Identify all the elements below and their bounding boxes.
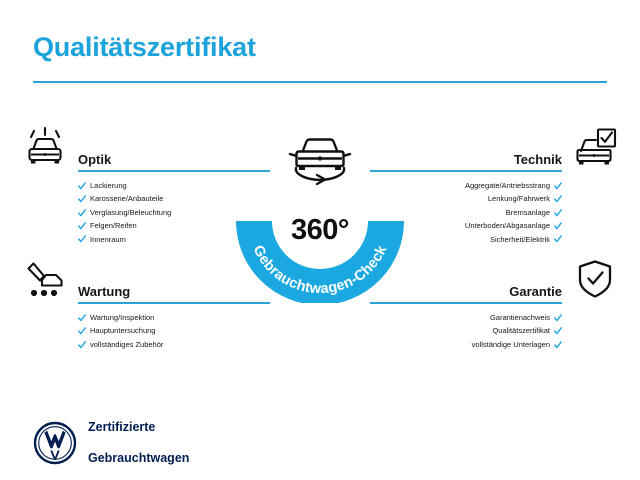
list-item-label: Felgen/Reifen — [90, 219, 137, 232]
check-icon — [78, 341, 86, 349]
list-item-label: Aggregate/Antriebsstrang — [465, 179, 550, 192]
list-item-label: Bremsanlage — [506, 206, 550, 219]
car-lift-service-icon — [22, 258, 68, 300]
check-icon — [78, 209, 86, 217]
list-item-label: vollständige Unterlagen — [472, 338, 550, 351]
list-item-label: Unterboden/Abgasanlage — [465, 219, 550, 232]
check-icon — [78, 314, 86, 322]
list-item-label: Innenraum — [90, 233, 126, 246]
badge-center-label: 360° — [224, 214, 416, 247]
list-item-label: Lenkung/Fahrwerk — [488, 192, 550, 205]
list-item-label: Lackierung — [90, 179, 127, 192]
list-item: Qualitätszertifikat — [370, 324, 562, 337]
list-item-label: Sicherheit/Elektrik — [490, 233, 550, 246]
footer-brand: Zertifizierte Gebrauchtwagen — [33, 404, 189, 480]
check-icon — [78, 235, 86, 243]
check-icon — [554, 209, 562, 217]
footer-line-1: Zertifizierte — [88, 420, 189, 436]
shield-check-icon — [572, 258, 618, 300]
check-icon — [554, 222, 562, 230]
list-item: Wartung/Inspektion — [78, 311, 270, 324]
list-item-label: Qualitätszertifikat — [492, 324, 550, 337]
check-icon — [554, 235, 562, 243]
list-item-label: Karosserie/Anbauteile — [90, 192, 163, 205]
checklist-garantie: Garantienachweis Qualitätszertifikat vol… — [370, 311, 618, 351]
header-divider — [33, 81, 607, 83]
list-item-label: Garantienachweis — [490, 311, 550, 324]
check-icon — [554, 182, 562, 190]
list-item: vollständige Unterlagen — [370, 338, 562, 351]
list-item-label: vollständiges Zubehör — [90, 338, 163, 351]
certificate-page: Qualitätszertifikat — [0, 0, 640, 480]
car-rotate-360-icon — [290, 140, 350, 185]
volkswagen-logo — [33, 421, 77, 465]
list-item: Garantienachweis — [370, 311, 562, 324]
check-icon — [78, 195, 86, 203]
check-icon — [78, 182, 86, 190]
check-icon — [554, 341, 562, 349]
check-icon — [78, 222, 86, 230]
car-checkbox-icon — [572, 126, 618, 168]
check-icon — [554, 195, 562, 203]
check-icon — [554, 314, 562, 322]
check-icon — [554, 327, 562, 335]
list-item: vollständiges Zubehör — [78, 338, 270, 351]
footer-line-2: Gebrauchtwagen — [88, 451, 189, 467]
badge-360-gebrauchtwagen-check: Gebrauchtwagen-Check 360° — [224, 118, 416, 303]
list-item-label: Wartung/Inspektion — [90, 311, 154, 324]
list-item-label: Hauptuntersuchung — [90, 324, 155, 337]
car-shine-icon — [22, 126, 68, 168]
list-item-label: Verglasung/Beleuchtung — [90, 206, 171, 219]
check-icon — [78, 327, 86, 335]
checklist-wartung: Wartung/Inspektion Hauptuntersuchung vol… — [22, 311, 270, 351]
page-title: Qualitätszertifikat — [33, 32, 256, 63]
footer-brand-text: Zertifizierte Gebrauchtwagen — [88, 404, 189, 480]
list-item: Hauptuntersuchung — [78, 324, 270, 337]
